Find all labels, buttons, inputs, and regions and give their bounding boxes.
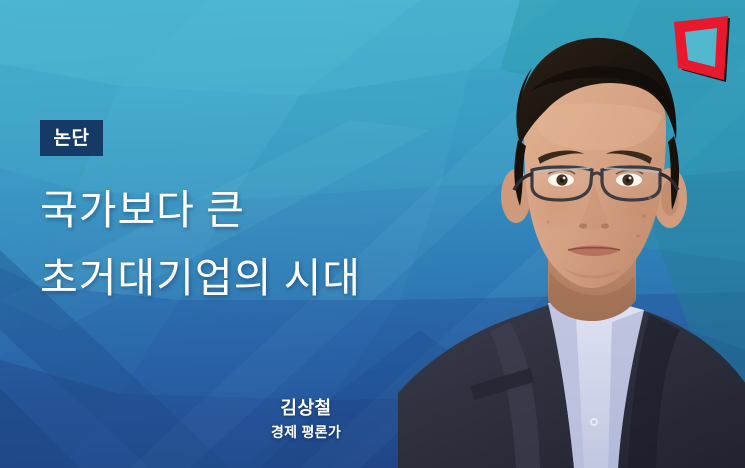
category-badge-label: 논단 <box>54 129 90 148</box>
red-square-frame-logo <box>672 14 734 86</box>
author-role: 경제 평론가 <box>222 421 390 443</box>
author-name: 김상철 <box>222 396 390 421</box>
article-banner-card: 논단 국가보다 큰 초거대기업의 시대 김상철 경제 평론가 <box>0 0 745 468</box>
category-badge[interactable]: 논단 <box>40 120 103 156</box>
byline: 김상철 경제 평론가 <box>222 396 390 443</box>
headline-line-2: 초거대기업의 시대 <box>40 244 460 312</box>
headline-line-1: 국가보다 큰 <box>40 176 460 244</box>
headline: 국가보다 큰 초거대기업의 시대 <box>40 176 460 312</box>
